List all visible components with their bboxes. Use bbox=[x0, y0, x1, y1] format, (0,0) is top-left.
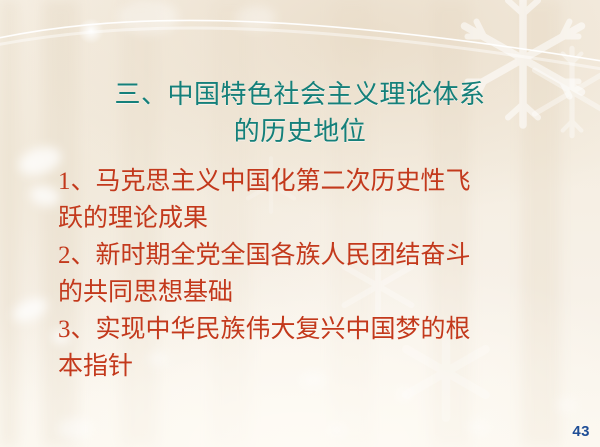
list-item: 跃的理论成果 bbox=[58, 200, 558, 237]
list-item: 的共同思想基础 bbox=[58, 274, 558, 311]
page-title: 三、中国特色社会主义理论体系 的历史地位 bbox=[0, 76, 600, 150]
bullet-list: 1、马克思主义中国化第二次历史性飞 跃的理论成果 2、新时期全党全国各族人民团结… bbox=[58, 163, 558, 385]
slide-content: 三、中国特色社会主义理论体系 的历史地位 1、马克思主义中国化第二次历史性飞 跃… bbox=[0, 0, 600, 447]
presentation-slide: 三、中国特色社会主义理论体系 的历史地位 1、马克思主义中国化第二次历史性飞 跃… bbox=[0, 0, 600, 447]
list-item: 本指针 bbox=[58, 348, 558, 385]
list-item: 2、新时期全党全国各族人民团结奋斗 bbox=[58, 237, 558, 274]
page-number: 43 bbox=[572, 423, 590, 440]
list-item: 1、马克思主义中国化第二次历史性飞 bbox=[58, 163, 558, 200]
list-item: 3、实现中华民族伟大复兴中国梦的根 bbox=[58, 311, 558, 348]
